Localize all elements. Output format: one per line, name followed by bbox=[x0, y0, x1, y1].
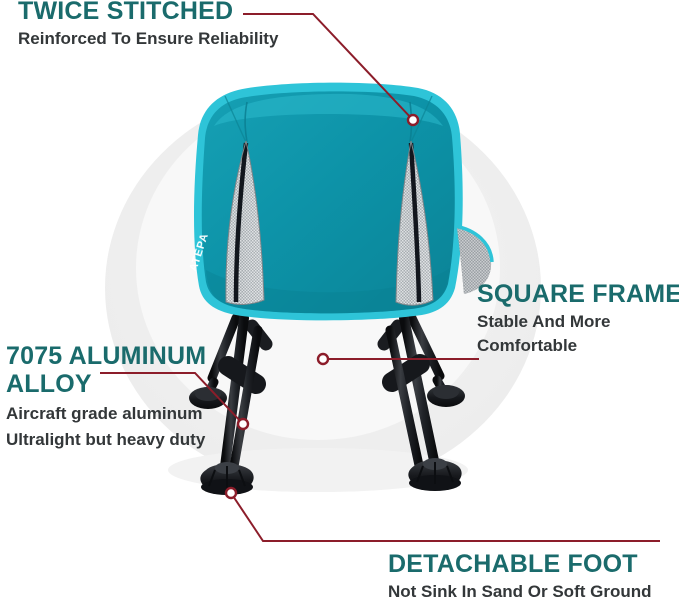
leader-line-detachable-foot bbox=[231, 493, 660, 541]
callout-sub-detachable-foot-1: Not Sink In Sand Or Soft Ground bbox=[388, 582, 652, 602]
callout-headline-twice-stitched: TWICE STITCHED bbox=[18, 0, 278, 25]
callout-dot-detachable-foot bbox=[226, 488, 236, 498]
callout-headline-aluminum-alloy-line2: ALLOY bbox=[6, 370, 206, 398]
callout-headline-square-frame: SQUARE FRAME bbox=[477, 281, 679, 308]
callout-sub-twice-stitched-1: Reinforced To Ensure Reliability bbox=[18, 29, 278, 49]
callout-headline-aluminum-alloy-line1: 7075 ALUMINUM bbox=[6, 342, 206, 370]
callout-dot-twice-stitched bbox=[408, 115, 418, 125]
callout-dot-aluminum-alloy bbox=[238, 419, 248, 429]
callout-dot-square-frame bbox=[318, 354, 328, 364]
callout-twice-stitched: TWICE STITCHED Reinforced To Ensure Reli… bbox=[18, 0, 278, 49]
callout-sub-aluminum-alloy-1: Aircraft grade aluminum bbox=[6, 404, 206, 424]
infographic-canvas: ATEPA bbox=[0, 0, 679, 604]
callout-detachable-foot: DETACHABLE FOOT Not Sink In Sand Or Soft… bbox=[388, 551, 652, 602]
callout-square-frame: SQUARE FRAME Stable And More Comfortable bbox=[477, 281, 679, 356]
callout-sub-square-frame-2: Comfortable bbox=[477, 336, 679, 356]
callout-headline-detachable-foot: DETACHABLE FOOT bbox=[388, 551, 652, 578]
callout-sub-square-frame-1: Stable And More bbox=[477, 312, 679, 332]
callout-sub-aluminum-alloy-2: Ultralight but heavy duty bbox=[6, 430, 206, 450]
callout-aluminum-alloy: 7075 ALUMINUM ALLOY Aircraft grade alumi… bbox=[6, 342, 206, 450]
callout-headline-aluminum-alloy: 7075 ALUMINUM ALLOY bbox=[6, 342, 206, 398]
